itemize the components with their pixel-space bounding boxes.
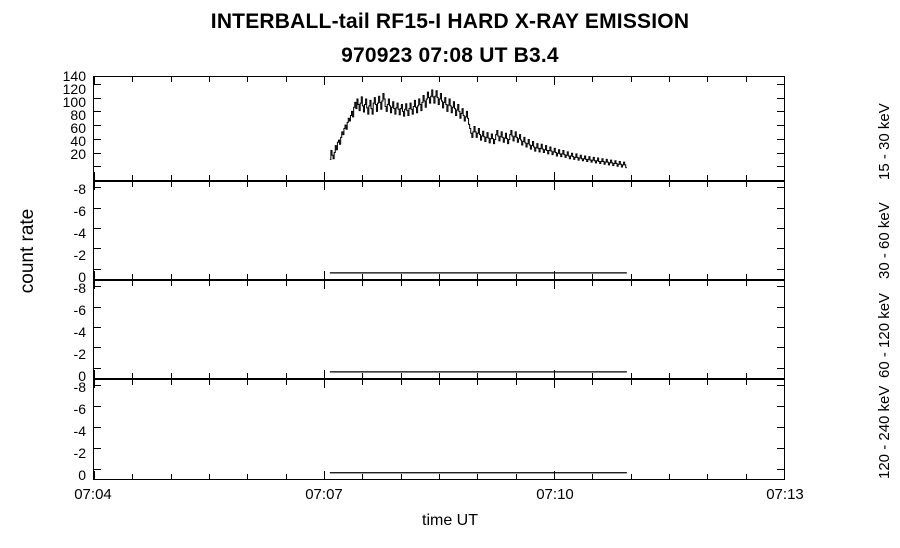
ytick-label: -6	[40, 401, 86, 417]
ytick-label: -2	[40, 346, 86, 362]
ytick-label: -6	[40, 302, 86, 318]
panel4-series-canvas	[94, 380, 784, 479]
ytick-label: -8	[40, 379, 86, 395]
panel1-series-canvas	[94, 77, 784, 180]
panel-15-30kev	[93, 76, 785, 181]
panel3-series-canvas	[94, 281, 784, 378]
panel-60-120kev	[93, 280, 785, 379]
xtick-label-0704: 07:04	[53, 486, 133, 503]
ytick-label: -4	[40, 324, 86, 340]
panel2-series-canvas	[94, 182, 784, 279]
ytick-label: 20	[40, 146, 86, 162]
ytick-label: -2	[40, 247, 86, 263]
ytick-label: -4	[40, 225, 86, 241]
panel-label-15-30kev: 15 - 30 keV	[876, 103, 893, 180]
panel-label-60-120kev: 60 - 120 keV	[876, 293, 893, 378]
ytick-label: -6	[40, 203, 86, 219]
chart-root: INTERBALL-tail RF15-I HARD X-RAY EMISSIO…	[0, 0, 900, 548]
ytick-label: -2	[40, 445, 86, 461]
ytick-label: 0	[40, 467, 86, 483]
plot-panels	[93, 76, 785, 480]
chart-title-line2: 970923 07:08 UT B3.4	[0, 44, 900, 68]
panel-30-60kev	[93, 181, 785, 280]
ytick-label: -8	[40, 181, 86, 197]
xtick-label-0710: 07:10	[515, 486, 595, 503]
xtick-label-0707: 07:07	[284, 486, 364, 503]
chart-title-line1: INTERBALL-tail RF15-I HARD X-RAY EMISSIO…	[0, 10, 900, 34]
panel-120-240kev	[93, 379, 785, 480]
ytick-label: -8	[40, 280, 86, 296]
y-axis-label: count rate	[17, 171, 39, 331]
panel-label-30-60kev: 30 - 60 keV	[876, 202, 893, 279]
x-axis-label: time UT	[0, 512, 900, 530]
panel-label-120-240kev: 120 - 240 keV	[876, 386, 893, 479]
ytick-label: -4	[40, 423, 86, 439]
xtick-label-0713: 07:13	[745, 486, 825, 503]
